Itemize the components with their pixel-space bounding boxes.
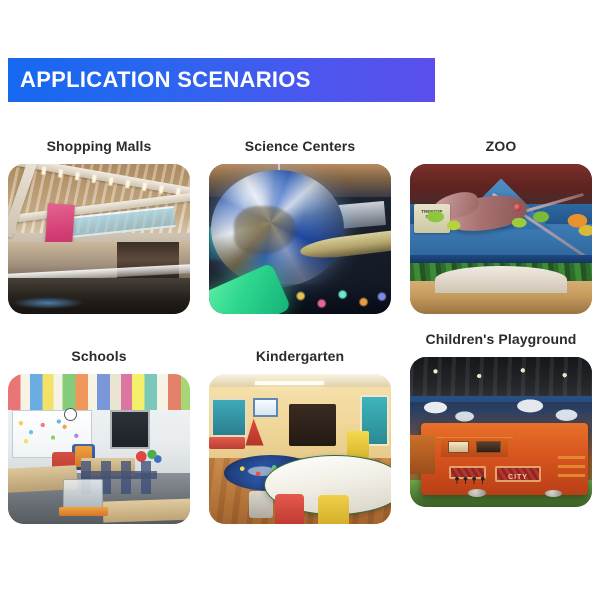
shopping-mall-interior-photo [8, 164, 190, 314]
scenario-card-science-centers[interactable]: Science Centers [209, 138, 391, 326]
fire-truck-badge-text: CITY [503, 474, 533, 480]
scenario-label-childrens-playground: Children's Playground [426, 331, 577, 349]
classroom-display-board [110, 410, 150, 449]
school-classroom-photo [8, 374, 190, 524]
page-title: APPLICATION SCENARIOS [20, 69, 311, 91]
scenario-label-zoo: ZOO [486, 138, 517, 156]
zoo-foliage [410, 209, 592, 248]
science-info-panel [337, 200, 386, 228]
scenario-label-shopping-malls: Shopping Malls [47, 138, 152, 156]
fire-truck-play-structure: CITY [421, 423, 588, 495]
fire-truck-window [448, 441, 470, 453]
childrens-playground-fire-truck-photo: CITY [410, 357, 592, 507]
zoo-indoor-squid-exhibit-photo: TREETOP SHOP [410, 164, 592, 314]
kindergarten-noticeboard [211, 398, 247, 437]
classroom-desk [102, 498, 190, 522]
science-center-globe-photo [209, 164, 391, 314]
kindergarten-cubby-unit [289, 404, 336, 446]
kindergarten-yellow-shelf [347, 431, 369, 458]
zoo-curved-balcony [435, 266, 566, 293]
playground-shelf-unit [410, 435, 435, 474]
kindergarten-chair [318, 495, 349, 524]
scenario-row-bottom: Schools [8, 348, 592, 538]
kindergarten-chair [275, 494, 304, 524]
classroom-poster-wall [8, 374, 190, 410]
scenario-card-kindergarten[interactable]: Kindergarten [209, 348, 391, 538]
classroom-storage-lid [59, 507, 108, 516]
fire-truck-ladder [558, 456, 585, 478]
fire-truck-window [476, 441, 501, 453]
scenario-card-schools[interactable]: Schools [8, 348, 190, 538]
scenario-label-schools: Schools [71, 348, 126, 366]
kindergarten-ceiling-light [255, 381, 324, 385]
kindergarten-window [253, 398, 278, 418]
kindergarten-side-table [209, 437, 245, 449]
zoo-railing [410, 255, 592, 263]
kindergarten-classroom-photo [209, 374, 391, 524]
playground-ceiling-lights [410, 363, 592, 384]
scenario-card-zoo[interactable]: ZOO TREETOP SHOP [410, 138, 592, 326]
scenario-card-childrens-playground[interactable]: Children's Playground CITY [410, 348, 592, 538]
scenario-label-kindergarten: Kindergarten [256, 348, 344, 366]
scenario-card-shopping-malls[interactable]: Shopping Malls [8, 138, 190, 326]
header-banner: APPLICATION SCENARIOS [8, 58, 435, 102]
mall-signage-glow [12, 297, 85, 309]
scenario-label-science-centers: Science Centers [245, 138, 355, 156]
scenario-grid: Shopping Malls Scien [8, 138, 592, 538]
scenario-row-top: Shopping Malls Scien [8, 138, 592, 326]
application-scenarios-page: APPLICATION SCENARIOS Shopping Malls [0, 0, 600, 600]
fire-truck-valve-handles [453, 477, 486, 484]
